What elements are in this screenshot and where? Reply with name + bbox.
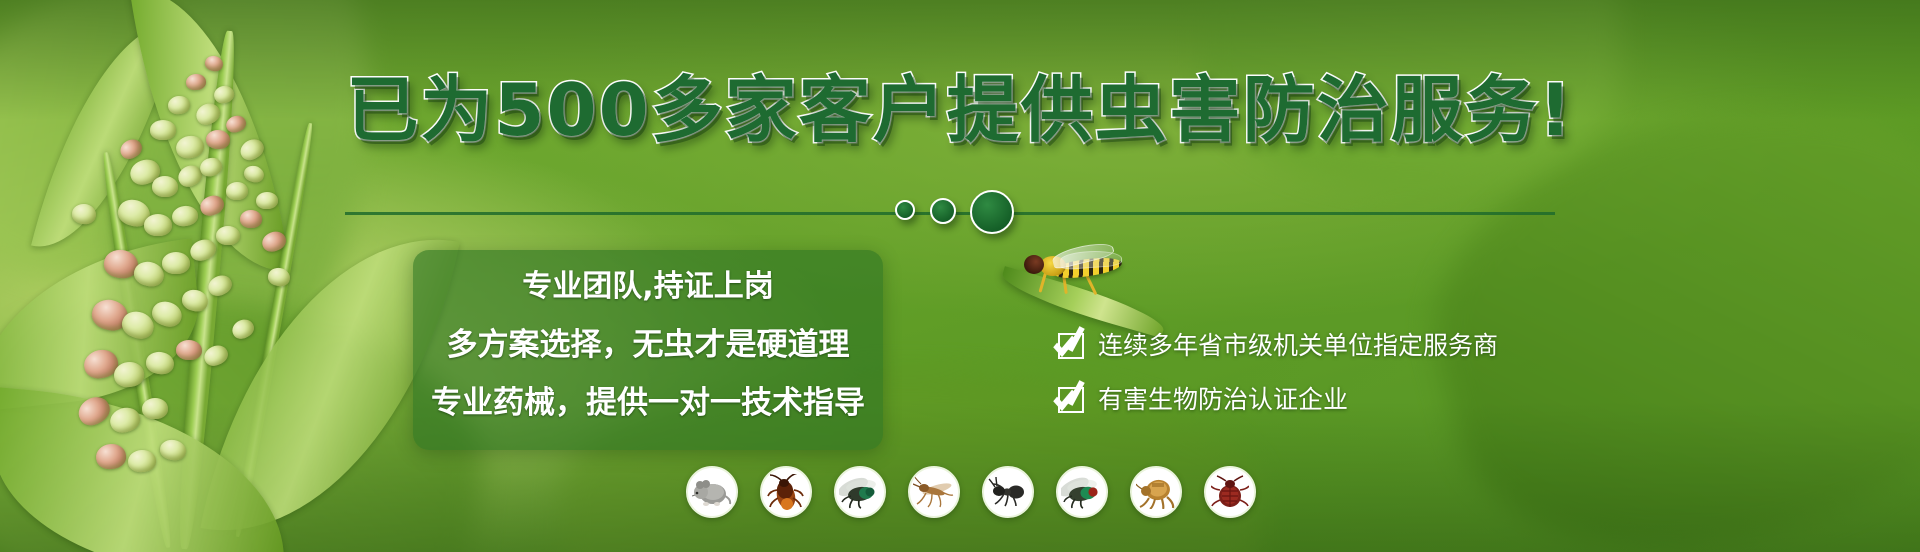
bud xyxy=(229,316,257,342)
decorative-dot-medium xyxy=(930,198,956,224)
checklist-item-label: 连续多年省市级机关单位指定服务商 xyxy=(1098,332,1498,360)
bud xyxy=(142,398,169,420)
bud xyxy=(144,214,172,236)
promo-banner: 已为500多家客户提供虫害防治服务! 专业团队,持证上岗 多方案选择，无虫才是硬… xyxy=(0,0,1920,552)
checklist-item: 有害生物防治认证企业 xyxy=(1058,386,1658,414)
feature-line-1: 专业团队,持证上岗 xyxy=(413,270,883,304)
checklist-item: 连续多年省市级机关单位指定服务商 xyxy=(1058,332,1658,360)
decorative-dot-large xyxy=(970,190,1014,234)
pest-icon-strip xyxy=(686,466,1256,518)
feature-card: 专业团队,持证上岗 多方案选择，无虫才是硬道理 专业药械，提供一对一技术指导 xyxy=(413,250,883,450)
cockroach-icon[interactable] xyxy=(760,466,812,518)
mosquito-icon[interactable] xyxy=(908,466,960,518)
bud xyxy=(150,120,176,140)
hoverfly-on-leaf-photo xyxy=(1018,245,1158,315)
bud xyxy=(176,340,203,361)
bud xyxy=(226,182,249,201)
rodent-icon[interactable] xyxy=(686,466,738,518)
bud xyxy=(171,204,200,227)
decorative-dot-small xyxy=(895,200,915,220)
checklist-item-label: 有害生物防治认证企业 xyxy=(1098,386,1348,414)
bedbug-icon[interactable] xyxy=(1204,466,1256,518)
fly-icon[interactable] xyxy=(834,466,886,518)
bud xyxy=(216,226,240,245)
flea-icon[interactable] xyxy=(1130,466,1182,518)
ant-icon[interactable] xyxy=(982,466,1034,518)
bud xyxy=(152,176,179,198)
bud xyxy=(206,130,231,150)
foreground-plant xyxy=(0,0,470,552)
check-square-icon xyxy=(1058,333,1084,359)
insect-head xyxy=(1024,255,1044,274)
bud xyxy=(162,252,190,274)
bud xyxy=(240,210,262,228)
checklist: 连续多年省市级机关单位指定服务商 有害生物防治认证企业 xyxy=(1058,332,1658,440)
bud xyxy=(256,192,279,210)
feature-line-3: 专业药械，提供一对一技术指导 xyxy=(413,386,883,420)
check-square-icon xyxy=(1058,387,1084,413)
check-mark-icon xyxy=(1067,380,1085,406)
feature-line-2: 多方案选择，无虫才是硬道理 xyxy=(413,328,883,362)
blowfly-icon[interactable] xyxy=(1056,466,1108,518)
